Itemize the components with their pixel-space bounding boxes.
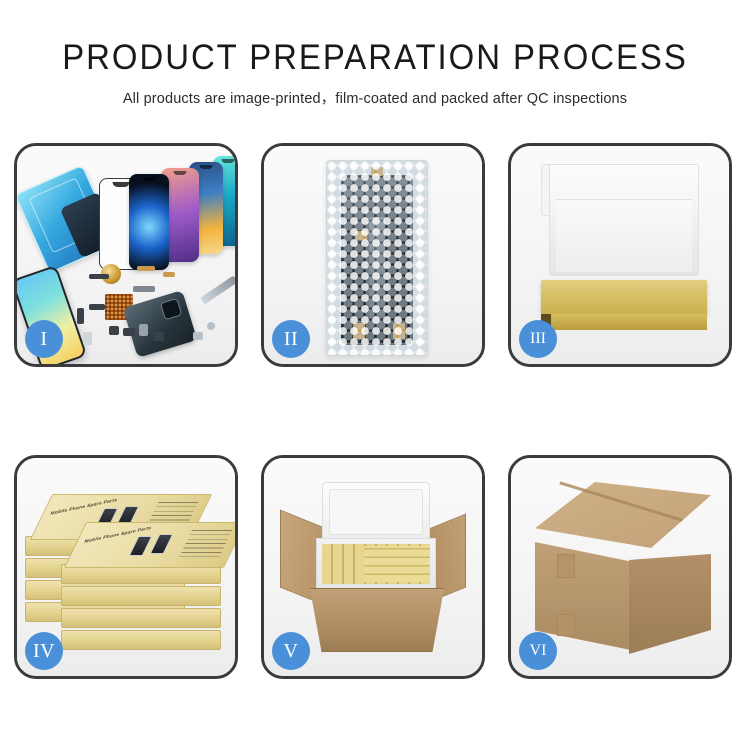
process-step-panel-6: VI <box>508 455 732 679</box>
carton-front-face <box>535 542 631 650</box>
white-foam-lid <box>549 164 699 276</box>
process-step-panel-1: I <box>14 143 238 367</box>
stacked-box <box>61 608 221 628</box>
step-badge-2: II <box>272 320 310 358</box>
step-badge-4: IV <box>25 632 63 670</box>
carton-tape-bottom <box>557 614 575 636</box>
notch-icon <box>200 165 213 169</box>
step-badge-6: VI <box>519 632 557 670</box>
box-screen-graphic <box>150 534 174 554</box>
process-step-panel-5: V <box>261 455 485 679</box>
carton-body <box>304 588 450 652</box>
foam-lid-open <box>322 482 430 542</box>
step-badge-3: III <box>519 320 557 358</box>
phone-display-2 <box>129 174 169 270</box>
tweezers-tool <box>200 276 238 305</box>
notch-icon <box>143 177 156 181</box>
stacked-box <box>61 586 221 606</box>
back-housing-part <box>123 290 197 358</box>
step-badge-5: V <box>272 632 310 670</box>
process-step-panel-3: III <box>508 143 732 367</box>
process-steps-grid: I II <box>14 143 736 679</box>
process-step-panel-2: II <box>261 143 485 367</box>
stacked-box <box>61 630 221 650</box>
process-step-panel-4: Mobile Phone Spare Parts Mobile Phone Sp… <box>14 455 238 679</box>
notch-icon <box>222 159 235 163</box>
header: PRODUCT PREPARATION PROCESS All products… <box>0 0 750 108</box>
box-spec-lines <box>179 530 233 558</box>
yellow-box-front <box>541 314 707 330</box>
bubble-wrap-bag <box>326 160 428 356</box>
step-badge-1: I <box>25 320 63 358</box>
product-preparation-process-infographic: PRODUCT PREPARATION PROCESS All products… <box>0 0 750 750</box>
box-screen-graphic <box>129 536 153 556</box>
page-subtitle: All products are image-printed，film-coat… <box>0 87 750 108</box>
yellow-box-tray <box>541 280 707 316</box>
box-lid-front: Mobile Phone Spare Parts <box>64 522 238 568</box>
bubble-texture <box>327 161 427 355</box>
page-title: PRODUCT PREPARATION PROCESS <box>23 40 728 77</box>
notch-icon <box>174 171 187 175</box>
carton-top-face <box>535 482 711 548</box>
carton-tape-top <box>557 554 575 578</box>
yellow-boxes-inside <box>364 546 430 582</box>
carton-side-face <box>629 554 711 654</box>
